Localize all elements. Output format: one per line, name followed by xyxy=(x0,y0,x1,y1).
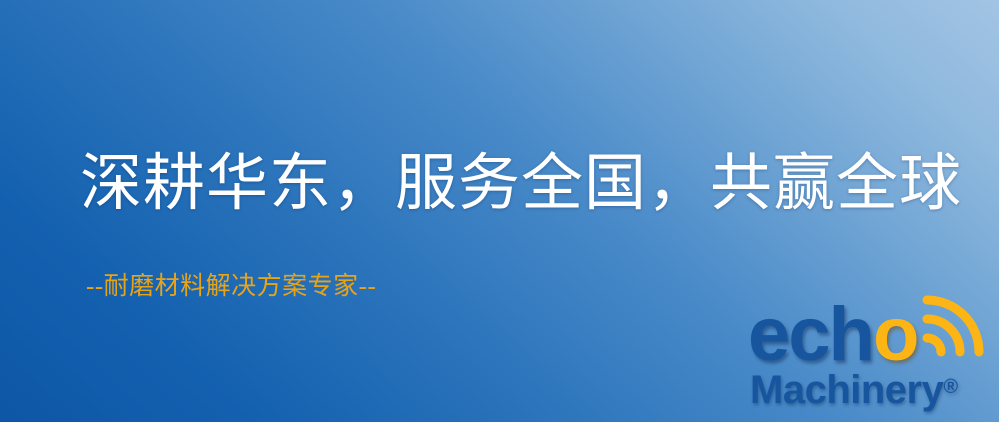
logo-wordmark: echo xyxy=(748,296,917,374)
logo-subtext: Machinery® xyxy=(750,368,958,413)
promotional-banner: 深耕华东，服务全国，共赢全球 --耐磨材料解决方案专家-- echo Machi… xyxy=(0,0,999,422)
registered-trademark-icon: ® xyxy=(943,376,958,398)
echo-machinery-logo: echo Machinery® xyxy=(748,296,996,420)
logo-subtext-label: Machinery xyxy=(750,368,943,412)
logo-wordmark-accent-letter: o xyxy=(873,292,917,377)
banner-headline: 深耕华东，服务全国，共赢全球 xyxy=(80,152,962,217)
banner-subtitle: --耐磨材料解决方案专家-- xyxy=(86,266,376,302)
signal-waves-icon xyxy=(926,290,999,356)
logo-wordmark-prefix: ech xyxy=(748,292,873,377)
